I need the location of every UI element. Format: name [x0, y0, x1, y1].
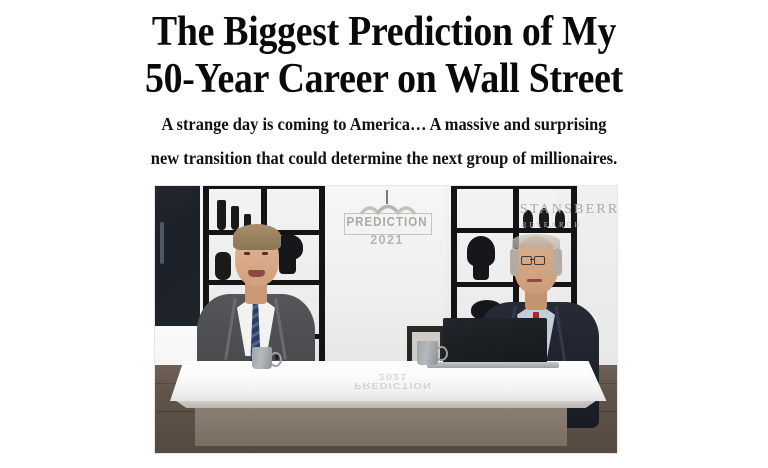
- person-left-eye: [262, 252, 268, 255]
- person-right-hair-side: [553, 248, 562, 276]
- coffee-mug-left-handle: [269, 352, 282, 367]
- table-apron: [195, 406, 567, 446]
- subtitle-line-1: A strange day is coming to America… A ma…: [23, 112, 745, 137]
- shelf-vase: [217, 200, 226, 230]
- person-left-eye: [244, 252, 250, 255]
- dark-door-panel: [155, 186, 202, 326]
- person-right-mouth: [527, 279, 542, 282]
- sign-year-label: 2021: [341, 233, 433, 247]
- person-right-glasses: [521, 256, 553, 265]
- subtitle-line-2: new transition that could determine the …: [23, 146, 745, 171]
- coffee-mug-right-handle: [435, 346, 448, 361]
- person-left-mouth: [248, 270, 265, 277]
- person-left-hair: [233, 224, 281, 250]
- person-right-hair: [512, 234, 560, 248]
- sign-word-label: PREDICTION: [345, 215, 430, 229]
- watermark-subbrand: RESEARCH: [522, 221, 617, 229]
- stansberry-watermark: STANSBERRY RESEARCH: [520, 202, 617, 229]
- laptop-screen: [443, 318, 547, 364]
- shelf-plant-leaves: [467, 236, 495, 266]
- table-sign-reflection: PREDICTION 2021: [345, 370, 441, 390]
- video-player[interactable]: PREDICTION 2021 STANSBERRY RESEARCH: [155, 186, 617, 453]
- laptop-base: [427, 362, 559, 368]
- conference-table: PREDICTION 2021: [155, 361, 617, 417]
- shelf-plant-pot: [279, 258, 296, 274]
- person-right-hair-side: [510, 248, 519, 276]
- page-title-line-2: 50-Year Career on Wall Street: [38, 56, 729, 103]
- watermark-brand: STANSBERRY: [520, 202, 617, 218]
- headline-block: The Biggest Prediction of My 50-Year Car…: [0, 0, 768, 171]
- shelf-vase: [231, 206, 239, 230]
- door-handle: [160, 222, 164, 264]
- shelf-vase: [215, 252, 231, 280]
- video-frame: PREDICTION 2021 STANSBERRY RESEARCH: [155, 186, 617, 453]
- prediction-2021-sign: PREDICTION 2021: [341, 194, 433, 250]
- page-title-line-1: The Biggest Prediction of My: [38, 9, 729, 56]
